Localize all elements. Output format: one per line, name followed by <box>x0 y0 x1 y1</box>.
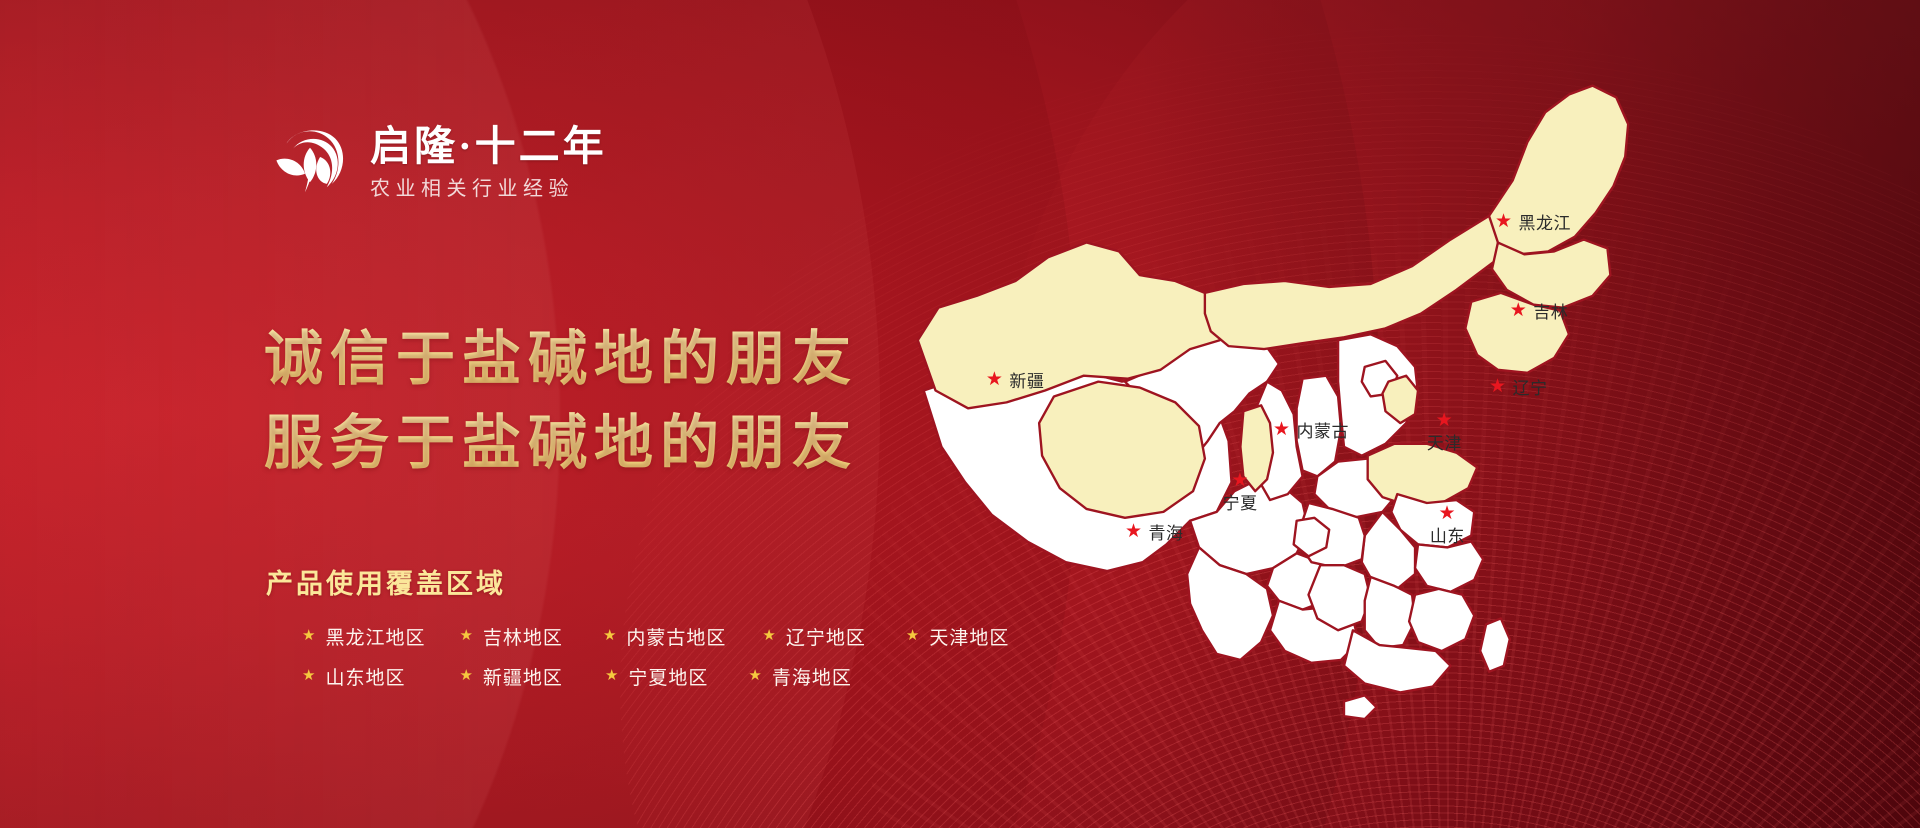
coverage-region-label: 辽宁地区 <box>786 623 866 650</box>
star-icon: ★ <box>459 669 473 684</box>
coverage-region-item[interactable]: ★新疆地区 <box>459 663 562 690</box>
map-star-icon: ★ <box>1495 212 1513 231</box>
coverage-region-list: ★黑龙江地区★吉林地区★内蒙古地区★辽宁地区★天津地区★山东地区★新疆地区★宁夏… <box>266 623 1009 690</box>
coverage-region-item[interactable]: ★宁夏地区 <box>605 663 708 690</box>
brand-title: 启隆·十二年 <box>370 124 607 169</box>
coverage-region-item[interactable]: ★吉林地区 <box>459 623 562 650</box>
brand-subtitle: 农业相关行业经验 <box>370 178 607 200</box>
coverage-region-item[interactable]: ★黑龙江地区 <box>302 623 425 650</box>
province-jiangxi <box>1365 577 1415 648</box>
coverage-region-row: ★黑龙江地区★吉林地区★内蒙古地区★辽宁地区★天津地区 <box>266 623 1009 650</box>
coverage-block: 产品使用覆盖区域 ★黑龙江地区★吉林地区★内蒙古地区★辽宁地区★天津地区★山东地… <box>266 562 1009 703</box>
province-zhejiang <box>1415 541 1483 591</box>
coverage-region-label: 宁夏地区 <box>628 663 708 690</box>
map-marker-label: 新疆 <box>1009 367 1044 392</box>
star-icon: ★ <box>605 669 619 684</box>
headline-line-1: 诚信于盐碱地的朋友 <box>264 318 858 402</box>
star-icon: ★ <box>302 669 316 684</box>
coverage-region-row: ★山东地区★新疆地区★宁夏地区★青海地区 <box>266 663 1009 690</box>
map-marker-辽宁[interactable]: ★辽宁 <box>1489 374 1548 399</box>
star-icon: ★ <box>762 629 776 644</box>
map-marker-label: 宁夏 <box>1223 489 1258 514</box>
brand-text: 启隆·十二年 农业相关行业经验 <box>370 124 607 200</box>
leaf-circle-logo-icon <box>268 120 352 204</box>
map-star-icon: ★ <box>1125 522 1143 541</box>
map-star-icon: ★ <box>1231 471 1249 490</box>
map-marker-label: 内蒙古 <box>1297 417 1350 442</box>
coverage-region-label: 黑龙江地区 <box>325 623 425 650</box>
map-marker-label: 吉林 <box>1533 298 1568 323</box>
coverage-region-label: 吉林地区 <box>483 623 563 650</box>
coverage-region-item[interactable]: ★内蒙古地区 <box>603 623 726 650</box>
province-hainan <box>1344 695 1377 719</box>
coverage-region-item[interactable]: ★青海地区 <box>748 663 851 690</box>
coverage-title: 产品使用覆盖区域 <box>266 562 1009 601</box>
coverage-region-label: 青海地区 <box>772 663 852 690</box>
map-marker-黑龙江[interactable]: ★黑龙江 <box>1495 209 1571 234</box>
coverage-region-label: 山东地区 <box>325 663 405 690</box>
coverage-region-item[interactable]: ★辽宁地区 <box>762 623 865 650</box>
map-star-icon: ★ <box>1510 301 1528 320</box>
map-marker-天津[interactable]: ★天津 <box>1427 411 1462 454</box>
brand-lockup: 启隆·十二年 农业相关行业经验 <box>268 120 607 204</box>
star-icon: ★ <box>302 629 316 644</box>
province-fujian <box>1409 589 1474 651</box>
map-marker-label: 山东 <box>1430 522 1465 547</box>
map-star-icon: ★ <box>986 370 1004 389</box>
map-star-icon: ★ <box>1436 411 1454 430</box>
map-marker-山东[interactable]: ★山东 <box>1430 504 1465 547</box>
coverage-region-label: 新疆地区 <box>483 663 563 690</box>
map-star-icon: ★ <box>1439 504 1457 523</box>
headline-line-2: 服务于盐碱地的朋友 <box>264 402 858 486</box>
map-marker-宁夏[interactable]: ★宁夏 <box>1223 471 1258 514</box>
map-star-icon: ★ <box>1273 420 1291 439</box>
map-marker-label: 黑龙江 <box>1519 209 1572 234</box>
coverage-region-item[interactable]: ★山东地区 <box>302 663 405 690</box>
map-marker-label: 青海 <box>1149 519 1184 544</box>
coverage-region-label: 内蒙古地区 <box>626 623 726 650</box>
star-icon: ★ <box>603 629 617 644</box>
star-icon: ★ <box>748 669 762 684</box>
map-star-icon: ★ <box>1489 377 1507 396</box>
province-taiwan <box>1480 618 1510 671</box>
map-marker-新疆[interactable]: ★新疆 <box>986 367 1045 392</box>
star-icon: ★ <box>459 629 473 644</box>
headline-block: 诚信于盐碱地的朋友 服务于盐碱地的朋友 <box>264 318 858 486</box>
map-marker-label: 辽宁 <box>1513 374 1548 399</box>
map-marker-吉林[interactable]: ★吉林 <box>1510 298 1569 323</box>
china-map: ★黑龙江★吉林★辽宁★天津★山东★内蒙古★宁夏★青海★新疆 <box>900 72 1640 712</box>
map-marker-青海[interactable]: ★青海 <box>1125 519 1184 544</box>
map-marker-内蒙古[interactable]: ★内蒙古 <box>1273 417 1349 442</box>
map-marker-label: 天津 <box>1427 429 1462 454</box>
banner-stage: 启隆·十二年 农业相关行业经验 诚信于盐碱地的朋友 服务于盐碱地的朋友 产品使用… <box>0 0 1920 828</box>
